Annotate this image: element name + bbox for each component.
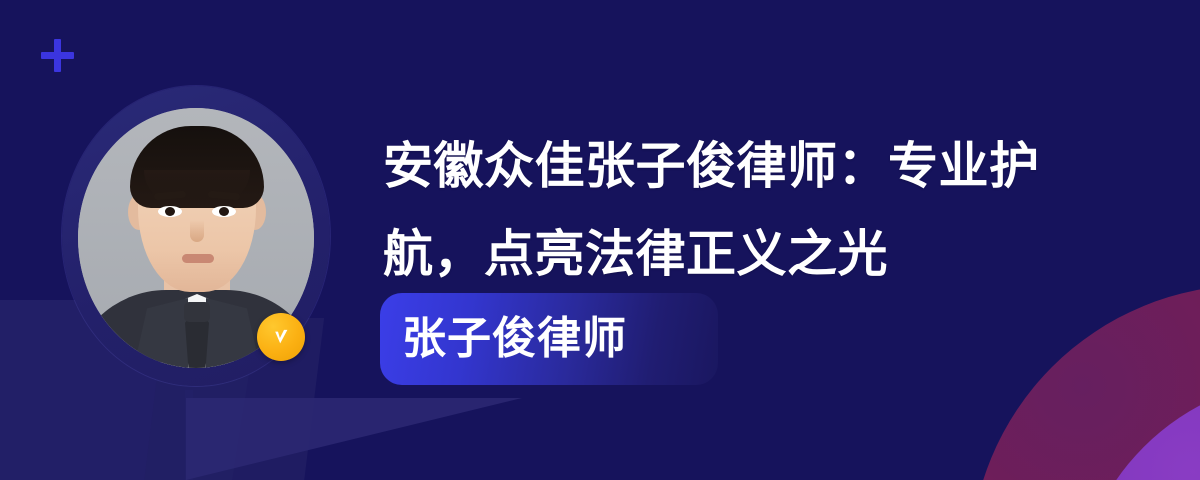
- avatar: [62, 86, 330, 386]
- promo-banner: 张子俊律师 安徽众佳张子俊律师：专业护航，点亮法律正义之光: [0, 0, 1200, 480]
- lawyer-name-label: 张子俊律师: [380, 317, 627, 361]
- decor-circle-magenta: [970, 285, 1200, 480]
- portrait-nose: [190, 220, 204, 242]
- decor-triangle-wedge: [186, 398, 522, 480]
- decor-vertical-bar: [185, 390, 193, 480]
- page-title: 安徽众佳张子俊律师：专业护航，点亮法律正义之光: [383, 122, 1083, 298]
- portrait-eye-left: [158, 206, 182, 217]
- portrait-eye-right: [212, 206, 236, 217]
- plus-icon: [41, 39, 74, 72]
- portrait-mouth: [182, 254, 214, 263]
- decor-circle-violet: [1075, 378, 1200, 480]
- lawyer-name-pill: 张子俊律师: [380, 293, 718, 385]
- verified-v-icon: [257, 313, 305, 361]
- portrait-tie-knot: [184, 302, 210, 322]
